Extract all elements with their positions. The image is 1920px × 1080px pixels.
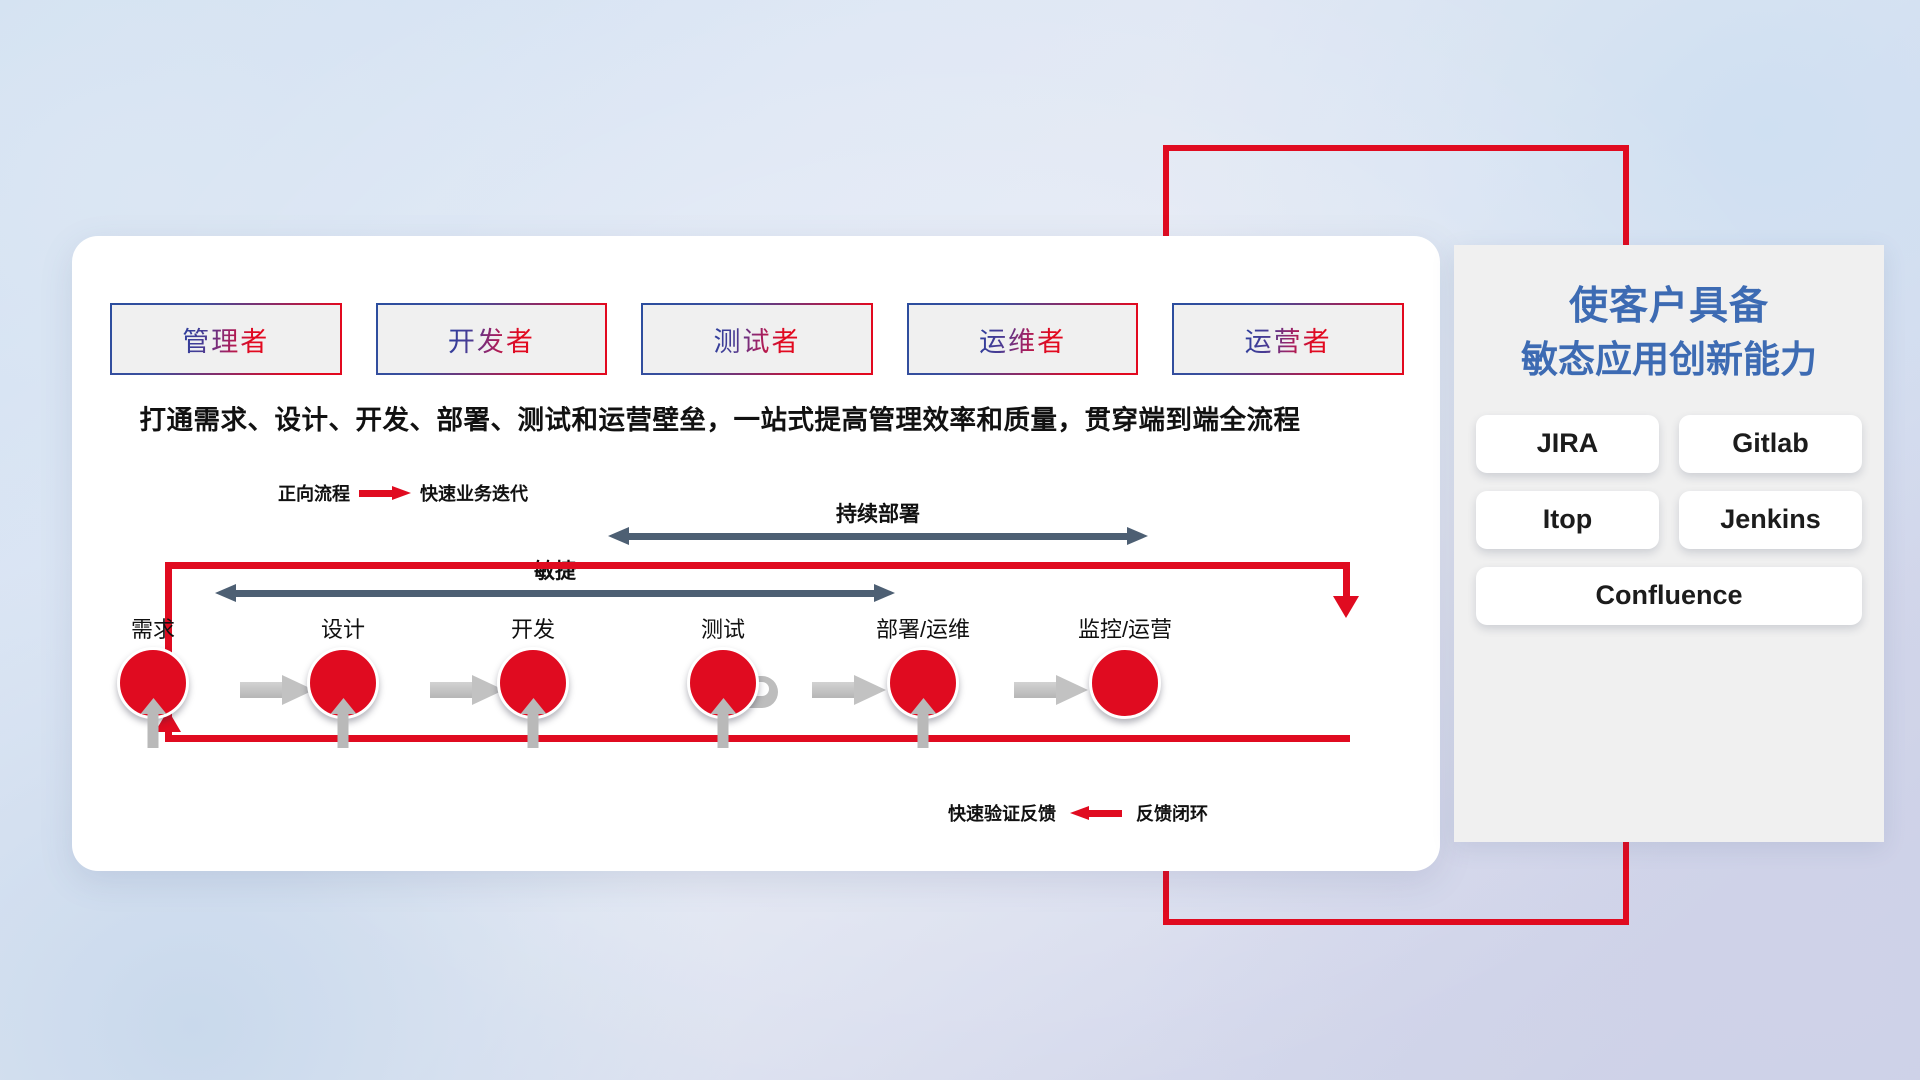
forward-flow-annotation: 正向流程 快速业务迭代 xyxy=(278,480,528,506)
outer-loop-top-segment xyxy=(1163,145,1629,151)
tool-chip-gitlab[interactable]: Gitlab xyxy=(1679,415,1862,473)
role-box-manager[interactable]: 管理者 xyxy=(112,305,340,373)
tool-chip-confluence[interactable]: Confluence xyxy=(1476,567,1862,625)
stage-feedback-stem-icon xyxy=(918,712,929,748)
arrow-tip-right xyxy=(1127,527,1148,545)
feedback-label-left: 快速验证反馈 xyxy=(948,800,1056,826)
feedback-label-right: 反馈闭环 xyxy=(1136,800,1208,826)
pipeline-stage-testing[interactable]: 测试 xyxy=(648,612,798,719)
right-panel-title: 使客户具备 敏态应用创新能力 xyxy=(1454,279,1884,387)
feedback-loop-annotation: 快速验证反馈 反馈闭环 xyxy=(948,800,1208,826)
pipeline: 需求 设计 开发 测试 部署/运维 xyxy=(112,612,1402,742)
stage-label: 监控/运营 xyxy=(1050,612,1200,644)
arrow-bar xyxy=(628,533,1128,540)
stage-label: 设计 xyxy=(268,612,418,644)
forward-flow-label-left: 正向流程 xyxy=(278,480,350,506)
stage-dot-icon xyxy=(1089,647,1161,719)
arrow-left-red-icon xyxy=(1070,806,1122,820)
right-panel: 使客户具备 敏态应用创新能力 JIRA Gitlab Itop Jenkins … xyxy=(1454,245,1884,842)
stage-feedback-stem-icon xyxy=(338,712,349,748)
measure-label-continuous-deployment: 持续部署 xyxy=(608,498,1148,528)
stage-feedback-stem-icon xyxy=(718,712,729,748)
tool-chip-list: JIRA Gitlab Itop Jenkins Confluence xyxy=(1476,415,1862,625)
outer-loop-left-upper-segment xyxy=(1163,145,1169,250)
pipeline-stage-development[interactable]: 开发 xyxy=(458,612,608,719)
role-label: 运维者 xyxy=(979,320,1066,359)
right-panel-title-line1: 使客户具备 xyxy=(1454,279,1884,334)
pipeline-stage-requirements[interactable]: 需求 xyxy=(78,612,228,719)
pipeline-stage-monitor-operate[interactable]: 监控/运营 xyxy=(1050,612,1200,719)
role-label: 管理者 xyxy=(182,320,269,359)
role-box-operations-engineer[interactable]: 运维者 xyxy=(909,305,1137,373)
stage-label: 开发 xyxy=(458,612,608,644)
outer-loop-bottom-segment xyxy=(1163,919,1629,925)
pipeline-stage-design[interactable]: 设计 xyxy=(268,612,418,719)
role-label: 运营者 xyxy=(1245,320,1332,359)
tool-chip-itop[interactable]: Itop xyxy=(1476,491,1659,549)
measure-label-agile: 敏捷 xyxy=(215,555,895,585)
tool-chip-jira[interactable]: JIRA xyxy=(1476,415,1659,473)
stage-feedback-stem-icon xyxy=(528,712,539,748)
tool-chip-jenkins[interactable]: Jenkins xyxy=(1679,491,1862,549)
stage-label: 需求 xyxy=(78,612,228,644)
arrow-right-red-icon xyxy=(359,486,411,500)
role-box-developer[interactable]: 开发者 xyxy=(378,305,606,373)
stage-feedback-stem-icon xyxy=(148,712,159,748)
right-panel-title-line2: 敏态应用创新能力 xyxy=(1454,334,1884,387)
stage-label: 测试 xyxy=(648,612,798,644)
role-label: 开发者 xyxy=(448,320,535,359)
double-arrow-agile-icon xyxy=(215,584,895,602)
headline-text: 打通需求、设计、开发、部署、测试和运营壁垒，一站式提高管理效率和质量，贯穿端到端… xyxy=(0,398,1440,437)
arrow-tip-left xyxy=(608,527,629,545)
role-box-row: 管理者 开发者 测试者 运维者 运营者 xyxy=(112,305,1402,373)
arrow-tip-right xyxy=(874,584,895,602)
stage-label: 部署/运维 xyxy=(848,612,998,644)
forward-flow-label-right: 快速业务迭代 xyxy=(420,480,528,506)
arrow-bar xyxy=(235,590,875,597)
arrow-tip-left xyxy=(215,584,236,602)
pipeline-loop-top-segment xyxy=(165,562,1350,569)
role-label: 测试者 xyxy=(713,320,800,359)
pipeline-stage-deploy-ops[interactable]: 部署/运维 xyxy=(848,612,998,719)
role-box-business-operator[interactable]: 运营者 xyxy=(1174,305,1402,373)
role-box-tester[interactable]: 测试者 xyxy=(643,305,871,373)
double-arrow-continuous-deployment-icon xyxy=(608,527,1148,545)
